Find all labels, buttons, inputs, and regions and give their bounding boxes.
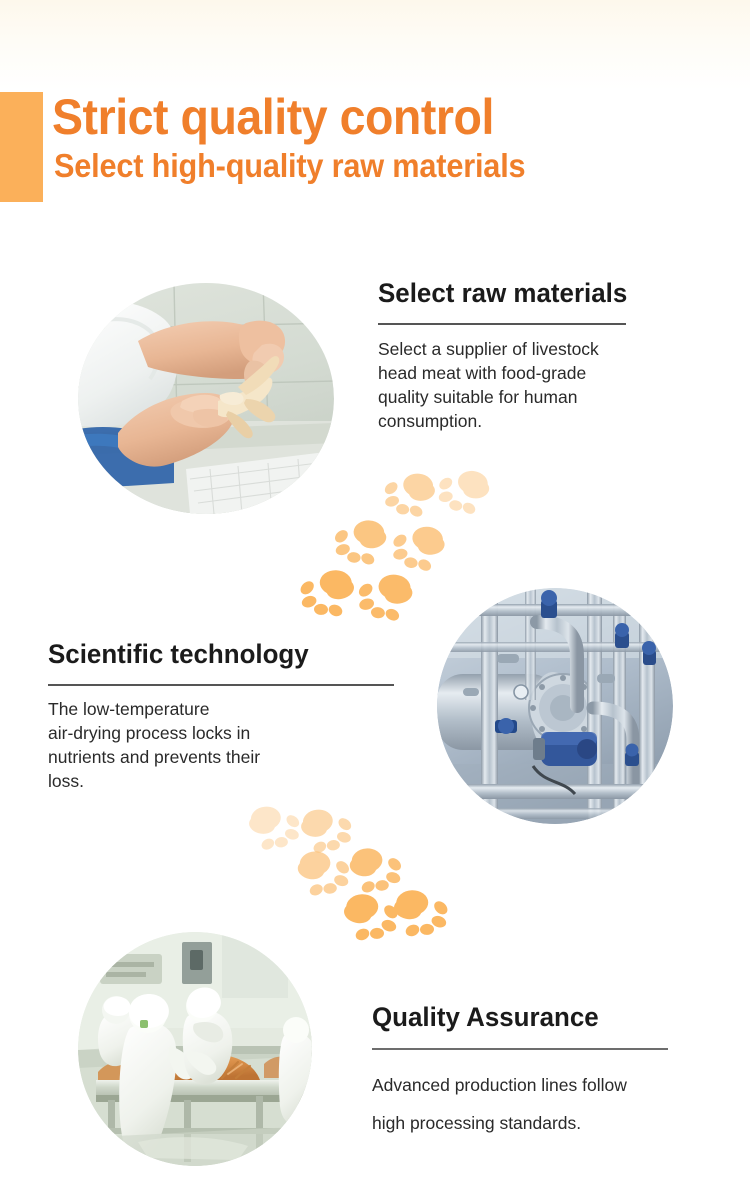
section-3-body: Advanced production lines follow high pr… bbox=[372, 1066, 692, 1142]
paw-print-trail-upper bbox=[296, 470, 496, 610]
page-subtitle: Select high-quality raw materials bbox=[54, 144, 525, 188]
paw-print-icon bbox=[355, 570, 423, 626]
section-1-divider bbox=[378, 323, 626, 325]
section-1-body-line: Select a supplier of livestock bbox=[378, 337, 688, 361]
section-3-text: Quality Assurance Advanced production li… bbox=[372, 1000, 692, 1142]
header-accent-bar bbox=[0, 92, 43, 202]
photo-factory-workers bbox=[78, 932, 312, 1166]
quality-control-infographic: Strict quality control Select high-quali… bbox=[0, 0, 750, 1198]
paw-print-icon bbox=[437, 468, 498, 517]
section-2-text: Scientific technology The low-temperatur… bbox=[48, 637, 398, 793]
section-2-divider bbox=[48, 684, 394, 686]
section-2-photo bbox=[437, 588, 673, 824]
section-2-body-line: nutrients and prevents their bbox=[48, 745, 398, 769]
section-2-title: Scientific technology bbox=[48, 637, 384, 671]
section-1-body-line: head meat with food-grade bbox=[378, 361, 688, 385]
paw-print-icon bbox=[296, 564, 367, 624]
section-2-body-line: The low-temperature bbox=[48, 697, 398, 721]
paw-print-icon bbox=[330, 515, 397, 571]
section-3-title: Quality Assurance bbox=[372, 1000, 679, 1034]
section-1-body: Select a supplier of livestock head meat… bbox=[378, 337, 688, 433]
paw-print-icon bbox=[390, 523, 454, 575]
section-3-body-line: Advanced production lines follow bbox=[372, 1066, 692, 1104]
page-title: Strict quality control bbox=[52, 86, 494, 148]
section-1-title: Select raw materials bbox=[378, 276, 676, 310]
page-header: Strict quality control Select high-quali… bbox=[0, 86, 750, 216]
section-3-divider bbox=[372, 1048, 668, 1050]
paw-print-icon bbox=[381, 469, 445, 522]
section-3-photo bbox=[78, 932, 312, 1166]
section-2-body-line: air-drying process locks in bbox=[48, 721, 398, 745]
paw-print-trail-lower bbox=[238, 806, 438, 936]
section-1-text: Select raw materials Select a supplier o… bbox=[378, 276, 688, 433]
section-1-body-line: consumption. bbox=[378, 409, 688, 433]
section-2-body: The low-temperature air-drying process l… bbox=[48, 697, 398, 793]
photo-industrial-piping bbox=[437, 588, 673, 824]
section-2-body-line: loss. bbox=[48, 769, 398, 793]
section-3-body-line: high processing standards. bbox=[372, 1104, 692, 1142]
top-background-wash bbox=[0, 0, 750, 90]
section-1-body-line: quality suitable for human bbox=[378, 385, 688, 409]
